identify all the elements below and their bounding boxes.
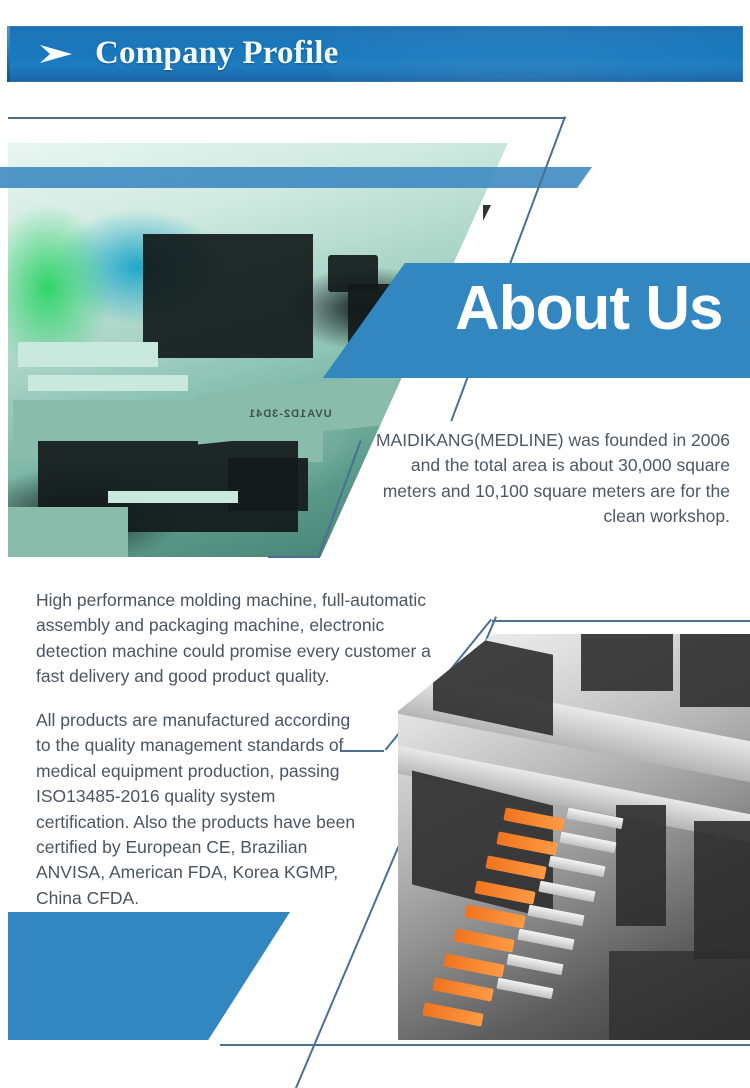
- decorative-triangle-icon: [483, 205, 491, 221]
- company-profile-page: Company Profile UVA1D2-3D41 About Us: [0, 0, 750, 1088]
- about-us-heading: About Us: [455, 278, 723, 340]
- decorative-blue-block: [8, 912, 290, 1040]
- diagonal-accent-line-bottom-photo-top: [492, 620, 750, 622]
- decorative-blue-band: [0, 167, 592, 188]
- diagonal-accent-line-mid-lower: [268, 556, 320, 558]
- body-paragraph-2: All products are manufactured according …: [36, 708, 366, 911]
- syringe-assembly-line-photo: [398, 634, 750, 1040]
- top-divider-rule: [8, 117, 566, 119]
- body-paragraph-1: High performance molding machine, full-a…: [36, 588, 436, 690]
- syringe-assembly-line-image: [398, 634, 750, 1040]
- machine-label: UVA1D2-3D41: [248, 408, 332, 420]
- header-banner: Company Profile: [7, 26, 743, 82]
- page-title: Company Profile: [95, 35, 338, 72]
- diagonal-accent-line-bottom: [220, 1044, 750, 1046]
- arrow-right-icon: [39, 43, 73, 65]
- about-us-paragraph: MAIDIKANG(MEDLINE) was founded in 2006 a…: [372, 428, 730, 530]
